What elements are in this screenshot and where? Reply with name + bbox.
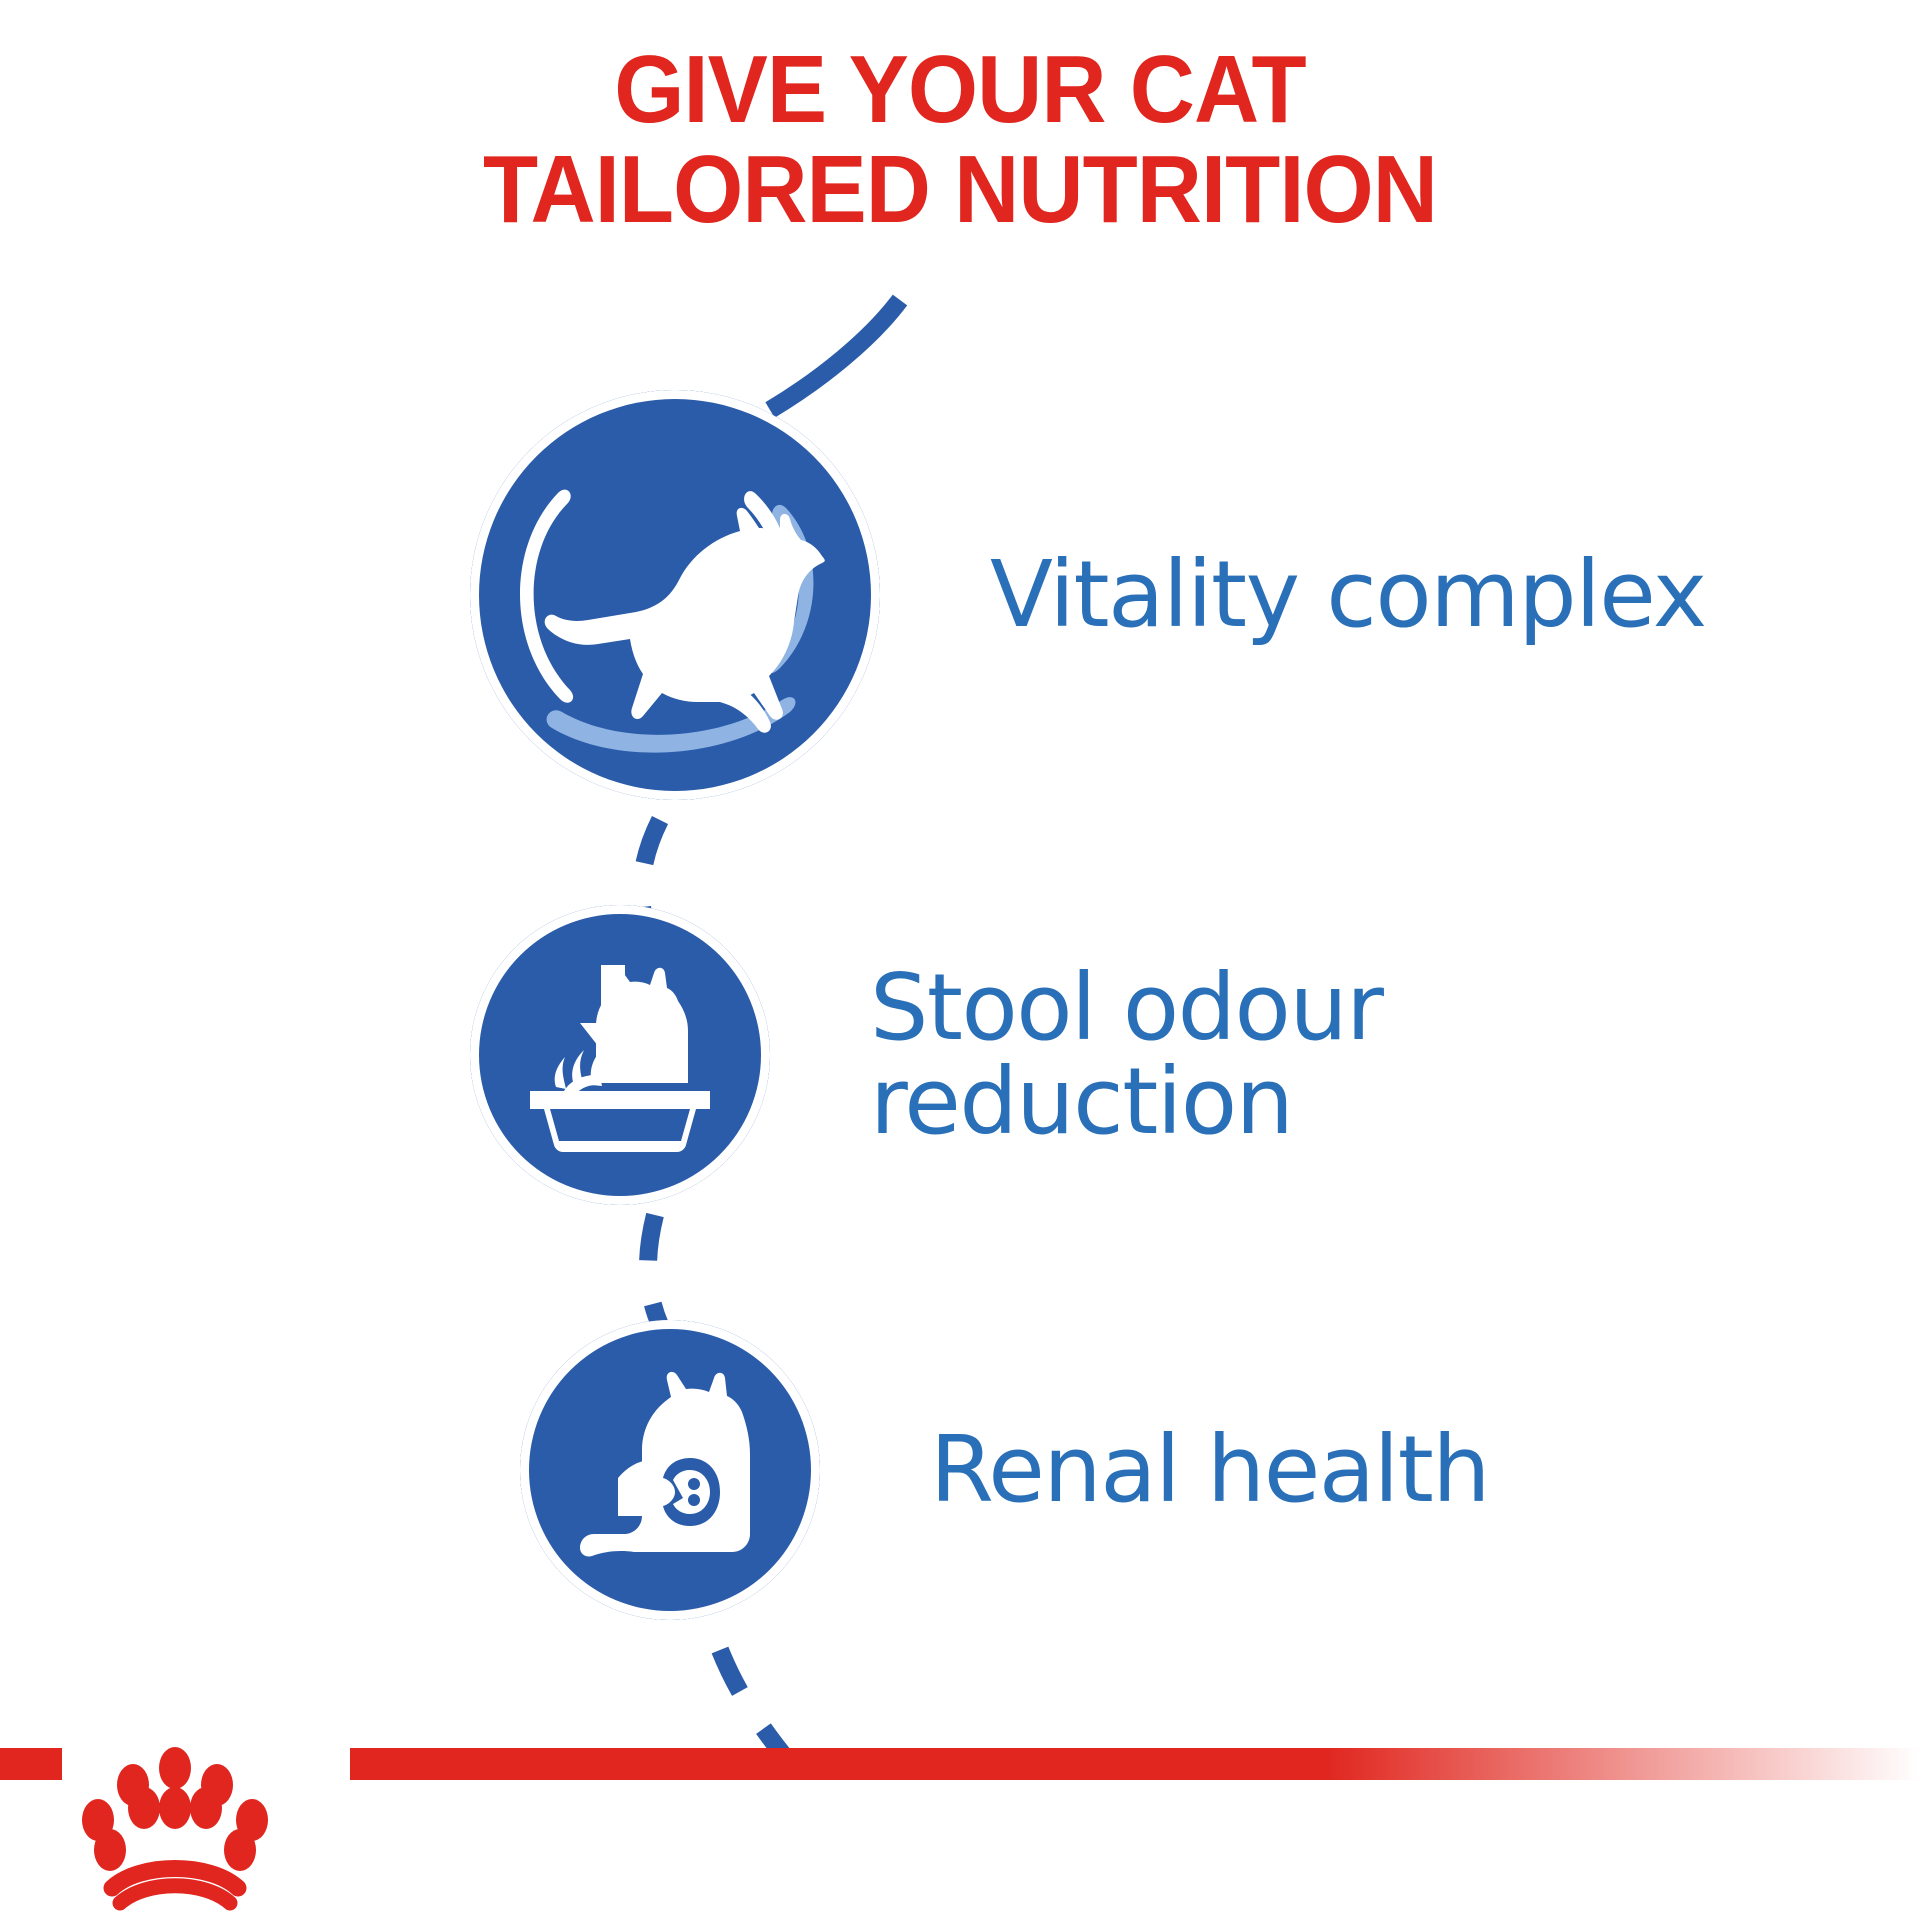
feature-label-renal-health: Renal health [930,1423,1489,1517]
cat-kidney-icon [520,1320,820,1620]
feature-item-renal-health[interactable]: Renal health [520,1320,1489,1620]
footer-brand-bar [0,1690,1920,1920]
feature-label-stool-odour-reduction: Stool odour reduction [870,961,1382,1149]
royal-canin-crown-logo [82,1747,268,1903]
litter-box-odour-icon [470,905,770,1205]
feature-list: Vitality complex [0,0,1920,1920]
feature-item-stool-odour-reduction[interactable]: Stool odour reduction [470,905,1382,1205]
feature-label-vitality-complex: Vitality complex [990,548,1706,642]
promo-panel: GIVE YOUR CAT TAILORED NUTRITION [0,0,1920,1920]
feature-item-vitality-complex[interactable]: Vitality complex [470,390,1706,800]
cat-vitality-icon [470,390,880,800]
